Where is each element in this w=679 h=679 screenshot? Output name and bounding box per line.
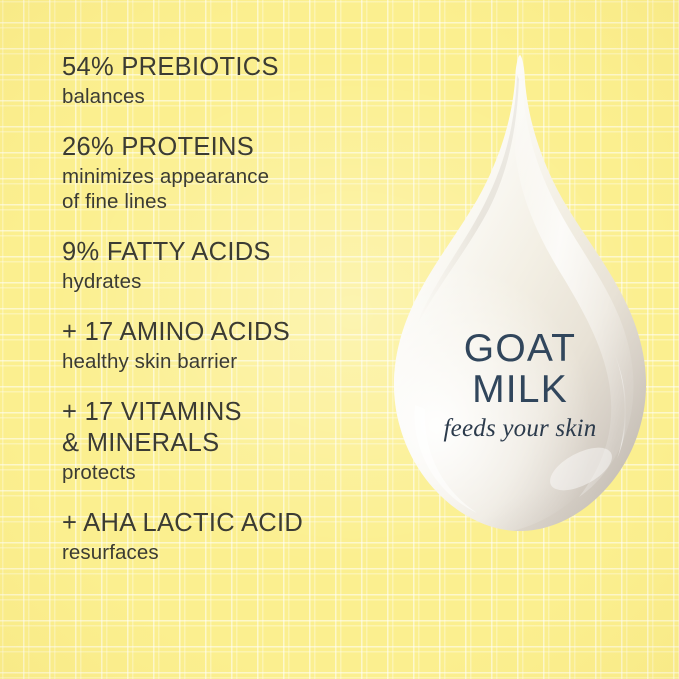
ingredient-title: 54% PREBIOTICS	[62, 52, 372, 83]
ingredient-title: 26% PROTEINS	[62, 132, 372, 163]
ingredient-item-fatty-acids: 9% FATTY ACIDS hydrates	[62, 237, 372, 294]
ingredient-title: + 17 VITAMINS & MINERALS	[62, 397, 372, 459]
ingredient-item-proteins: 26% PROTEINS minimizes appearance of fin…	[62, 132, 372, 214]
ingredient-benefit: protects	[62, 460, 372, 485]
ingredient-item-aha-lactic-acid: + AHA LACTIC ACID resurfaces	[62, 508, 372, 565]
ingredient-title: 9% FATTY ACIDS	[62, 237, 372, 268]
ingredient-item-amino-acids: + 17 AMINO ACIDS healthy skin barrier	[62, 317, 372, 374]
ingredient-benefit: hydrates	[62, 269, 372, 294]
ingredient-item-vitamins-minerals: + 17 VITAMINS & MINERALS protects	[62, 397, 372, 485]
ingredient-benefit: resurfaces	[62, 540, 372, 565]
ingredient-list: 54% PREBIOTICS balances 26% PROTEINS min…	[62, 52, 372, 565]
ingredient-benefit: balances	[62, 84, 372, 109]
ingredient-item-prebiotics: 54% PREBIOTICS balances	[62, 52, 372, 109]
ingredient-title: + 17 AMINO ACIDS	[62, 317, 372, 348]
milk-droplet-illustration	[375, 45, 665, 555]
infographic-poster: GOAT MILK feeds your skin 54% PREBIOTICS…	[0, 0, 679, 679]
ingredient-title: + AHA LACTIC ACID	[62, 508, 372, 539]
ingredient-benefit: minimizes appearance of fine lines	[62, 164, 372, 214]
ingredient-benefit: healthy skin barrier	[62, 349, 372, 374]
